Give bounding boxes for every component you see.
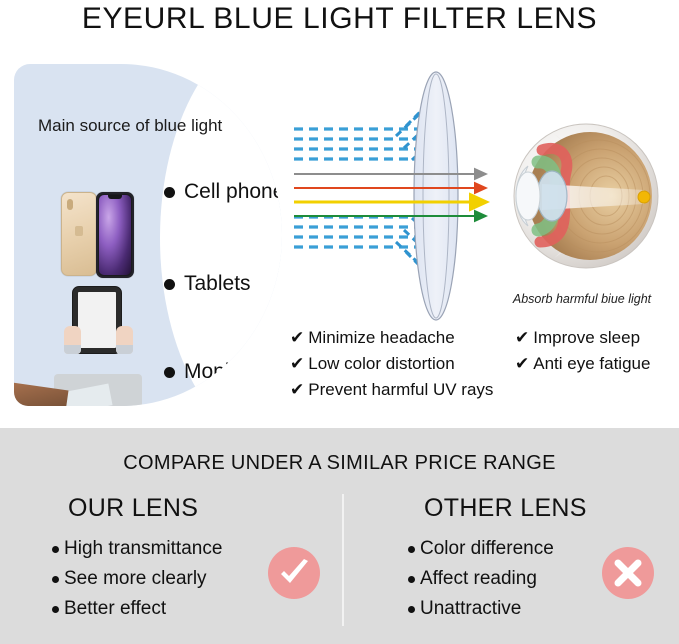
- hand-right: [116, 326, 133, 354]
- check-icon: ✔: [290, 329, 304, 346]
- bullet-icon: [52, 576, 59, 583]
- phone-back: [61, 192, 97, 276]
- benefit-item: ✔ Prevent harmful UV rays: [290, 380, 493, 400]
- list-item-label: See more clearly: [64, 568, 207, 590]
- cross-badge: [602, 547, 654, 599]
- benefit-label: Low color distortion: [308, 354, 454, 374]
- notch: [108, 195, 122, 199]
- benefit-label: Minimize headache: [308, 328, 454, 348]
- our-lens-heading: OUR LENS: [68, 494, 198, 523]
- list-item: Color difference: [408, 538, 554, 560]
- benefit-item: ✔ Anti eye fatigue: [515, 354, 650, 374]
- other-lens-heading: OTHER LENS: [424, 494, 587, 523]
- list-item: See more clearly: [52, 568, 222, 590]
- list-item-label: High transmittance: [64, 538, 222, 560]
- tablet-icon: [58, 286, 138, 370]
- list-item-label: Unattractive: [420, 598, 521, 620]
- lens-outer: [414, 72, 458, 320]
- check-icon: ✔: [515, 329, 529, 346]
- lens-ray-diagram: [288, 70, 493, 326]
- list-item: Affect reading: [408, 568, 554, 590]
- list-item: Unattractive: [408, 598, 554, 620]
- compare-title: COMPARE UNDER A SIMILAR PRICE RANGE: [0, 452, 679, 475]
- check-icon: ✔: [290, 381, 304, 398]
- benefit-label: Improve sleep: [533, 328, 640, 348]
- bullet-icon: [408, 606, 415, 613]
- list-item: Better effect: [52, 598, 222, 620]
- list-item-label: Color difference: [420, 538, 554, 560]
- list-item-label: Better effect: [64, 598, 166, 620]
- upper-section: Main source of blue light Cell phones Ta…: [0, 42, 679, 428]
- other-lens-list: Color difference Affect reading Unattrac…: [408, 538, 554, 628]
- eye-anatomy-illustration: Absorb harmful biue light: [494, 110, 670, 330]
- eye-lens: [537, 171, 567, 221]
- hand-left: [64, 326, 81, 354]
- blue-light-source-panel: Main source of blue light Cell phones Ta…: [14, 64, 282, 406]
- ray-diagram-svg: [288, 70, 493, 326]
- camera-icon: [67, 199, 73, 210]
- smartphone-icon: [58, 190, 136, 278]
- page-title: EYEURL BLUE LIGHT FILTER LENS: [0, 2, 679, 36]
- bullet-icon: [164, 367, 175, 378]
- source-item-label: Cell phones: [184, 180, 282, 204]
- eye-svg: [494, 110, 670, 286]
- benefit-item: ✔ Minimize headache: [290, 328, 493, 348]
- cross-badge-icon: [602, 547, 654, 599]
- check-icon: ✔: [290, 355, 304, 372]
- check-icon: ✔: [515, 355, 529, 372]
- our-lens-list: High transmittance See more clearly Bett…: [52, 538, 222, 628]
- benefits-list: ✔ Minimize headache ✔ Low color distorti…: [290, 328, 670, 418]
- check-badge-icon: [268, 547, 320, 599]
- macula: [638, 191, 650, 203]
- benefits-column-left: ✔ Minimize headache ✔ Low color distorti…: [290, 328, 493, 406]
- source-item-monitors: Monitors: [164, 360, 265, 384]
- bullet-icon: [164, 279, 175, 290]
- benefit-label: Prevent harmful UV rays: [308, 380, 493, 400]
- source-panel-heading: Main source of blue light: [38, 116, 222, 136]
- eye-caption: Absorb harmful biue light: [494, 292, 670, 306]
- source-item-tablets: Tablets: [164, 272, 251, 296]
- phone-front: [96, 192, 134, 278]
- phone-logo: [75, 226, 83, 236]
- list-item: High transmittance: [52, 538, 222, 560]
- sleeve: [64, 345, 81, 354]
- list-item-label: Affect reading: [420, 568, 537, 590]
- sleeve: [116, 345, 133, 354]
- bullet-icon: [408, 546, 415, 553]
- benefit-item: ✔ Low color distortion: [290, 354, 493, 374]
- benefit-label: Anti eye fatigue: [533, 354, 650, 374]
- bullet-icon: [164, 187, 175, 198]
- bullet-icon: [408, 576, 415, 583]
- source-item-label: Monitors: [184, 360, 265, 384]
- anterior-chamber: [516, 172, 540, 220]
- source-item-label: Tablets: [184, 272, 251, 296]
- infographic-root: EYEURL BLUE LIGHT FILTER LENS Main sourc…: [0, 0, 679, 644]
- bullet-icon: [52, 606, 59, 613]
- phone-screen: [99, 195, 131, 275]
- tablet-screen: [78, 292, 116, 348]
- desktop-monitor-icon: [54, 374, 144, 406]
- check-badge: [268, 547, 320, 599]
- source-item-cell-phones: Cell phones: [164, 180, 282, 204]
- monitor-body: [54, 374, 142, 406]
- benefit-item: ✔ Improve sleep: [515, 328, 650, 348]
- column-divider: [342, 494, 344, 626]
- compare-section: COMPARE UNDER A SIMILAR PRICE RANGE OUR …: [0, 428, 679, 644]
- bullet-icon: [52, 546, 59, 553]
- benefits-column-right: ✔ Improve sleep ✔ Anti eye fatigue: [515, 328, 650, 380]
